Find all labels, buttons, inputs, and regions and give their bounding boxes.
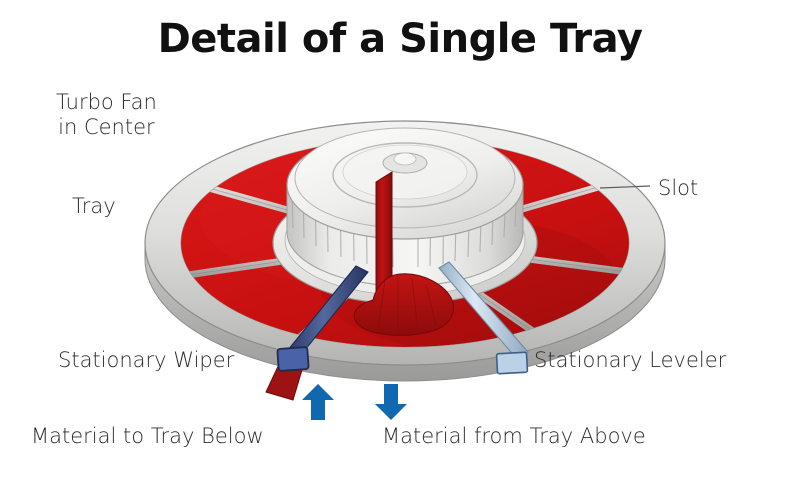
- label-turbo-fan-line1: Turbo Fan: [56, 90, 157, 115]
- turbo-fan: [287, 128, 523, 286]
- label-stationary-leveler: Stationary Leveler: [534, 348, 726, 373]
- fan-hub-dome: [394, 153, 416, 165]
- wiper-pad: [277, 347, 308, 371]
- label-tray: Tray: [72, 194, 116, 219]
- arrow-down-icon: [373, 383, 409, 421]
- label-material-from-tray-above: Material from Tray Above: [382, 424, 646, 449]
- label-material-to-tray-below: Material to Tray Below: [31, 424, 264, 449]
- diagram-canvas: Detail of a Single Tray: [0, 0, 800, 478]
- label-stationary-wiper: Stationary Wiper: [58, 348, 234, 373]
- label-turbo-fan-line2: in Center: [56, 115, 157, 140]
- label-turbo-fan: Turbo Fan in Center: [56, 90, 157, 140]
- leveler-pad: [496, 352, 527, 374]
- arrow-up-icon: [300, 383, 336, 421]
- label-slot: Slot: [658, 176, 698, 201]
